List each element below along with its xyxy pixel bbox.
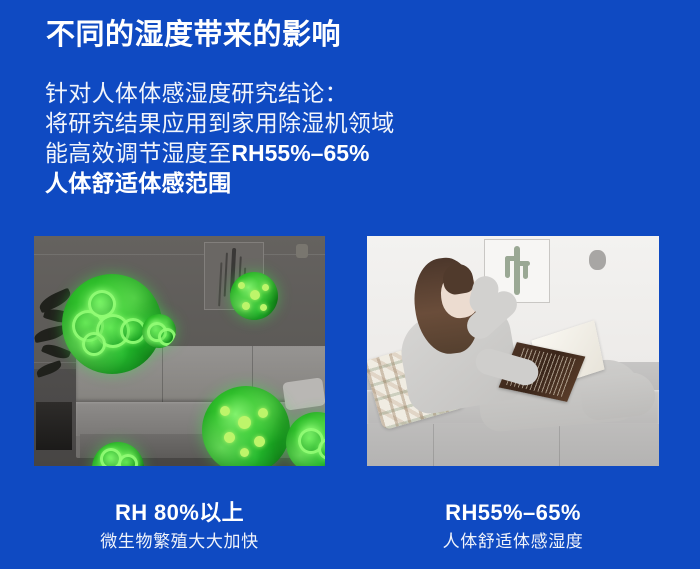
plant-pot bbox=[36, 402, 72, 450]
microbe-spike bbox=[250, 290, 260, 300]
microbe-spike bbox=[242, 302, 250, 310]
microbe-sphere-bottom bbox=[92, 442, 144, 466]
intro-line-4: 人体舒适体感范围 bbox=[45, 168, 665, 198]
caption-comfort-humidity: RH55%–65% 人体舒适体感湿度 bbox=[367, 500, 659, 554]
microbe-spike bbox=[240, 448, 249, 457]
intro-paragraph: 针对人体体感湿度研究结论： 将研究结果应用到家用除湿机领域 能高效调节湿度至RH… bbox=[45, 78, 665, 198]
page-title: 不同的湿度带来的影响 bbox=[46, 16, 646, 54]
microbe-spike bbox=[258, 408, 268, 418]
caption-title-high-humidity: RH 80%以上 bbox=[34, 500, 325, 526]
microbe-sphere-foreground bbox=[202, 386, 290, 466]
microbe-cell bbox=[158, 328, 176, 346]
photo-comfort-humidity bbox=[367, 236, 659, 466]
microbe-spike bbox=[254, 436, 265, 447]
bright-living-room-scene bbox=[367, 236, 659, 466]
intro-line-3: 能高效调节湿度至RH55%–65% bbox=[45, 138, 665, 168]
intro-line-3-prefix: 能高效调节湿度至 bbox=[45, 140, 231, 166]
microbe-sphere-corner bbox=[286, 412, 325, 466]
sofa-seam bbox=[433, 424, 434, 466]
caption-subtitle-comfort-humidity: 人体舒适体感湿度 bbox=[367, 530, 659, 554]
sofa-seam bbox=[162, 346, 163, 402]
caption-title-comfort-humidity: RH55%–65% bbox=[367, 500, 659, 526]
microbe-spike bbox=[238, 416, 251, 429]
sofa-seam bbox=[559, 424, 560, 466]
microbe-spike bbox=[224, 432, 235, 443]
wall-speaker-icon bbox=[296, 244, 308, 258]
photo-high-humidity bbox=[34, 236, 325, 466]
wall-speaker-icon bbox=[589, 250, 606, 270]
microbe-spike bbox=[262, 284, 269, 291]
cactus-arm bbox=[516, 261, 530, 266]
intro-line-2: 将研究结果应用到家用除湿机领域 bbox=[45, 108, 665, 138]
microbe-spike bbox=[220, 406, 230, 416]
humidity-infographic-poster: 不同的湿度带来的影响 针对人体体感湿度研究结论： 将研究结果应用到家用除湿机领域… bbox=[0, 0, 700, 569]
humidity-range-emphasis: RH55%–65% bbox=[231, 140, 369, 166]
dim-living-room-scene bbox=[34, 236, 325, 466]
microbe-spike bbox=[260, 304, 267, 311]
intro-line-1: 针对人体体感湿度研究结论： bbox=[45, 78, 665, 108]
microbe-cell bbox=[82, 332, 106, 356]
caption-subtitle-high-humidity: 微生物繁殖大大加快 bbox=[34, 530, 325, 554]
microbe-sphere-small bbox=[142, 314, 176, 348]
caption-high-humidity: RH 80%以上 微生物繁殖大大加快 bbox=[34, 500, 325, 554]
wall-seam-line bbox=[34, 254, 325, 255]
microbe-sphere-medium bbox=[230, 272, 278, 320]
cactus-icon bbox=[514, 246, 520, 294]
microbe-spike bbox=[238, 282, 245, 289]
microbe-cell bbox=[118, 454, 138, 466]
